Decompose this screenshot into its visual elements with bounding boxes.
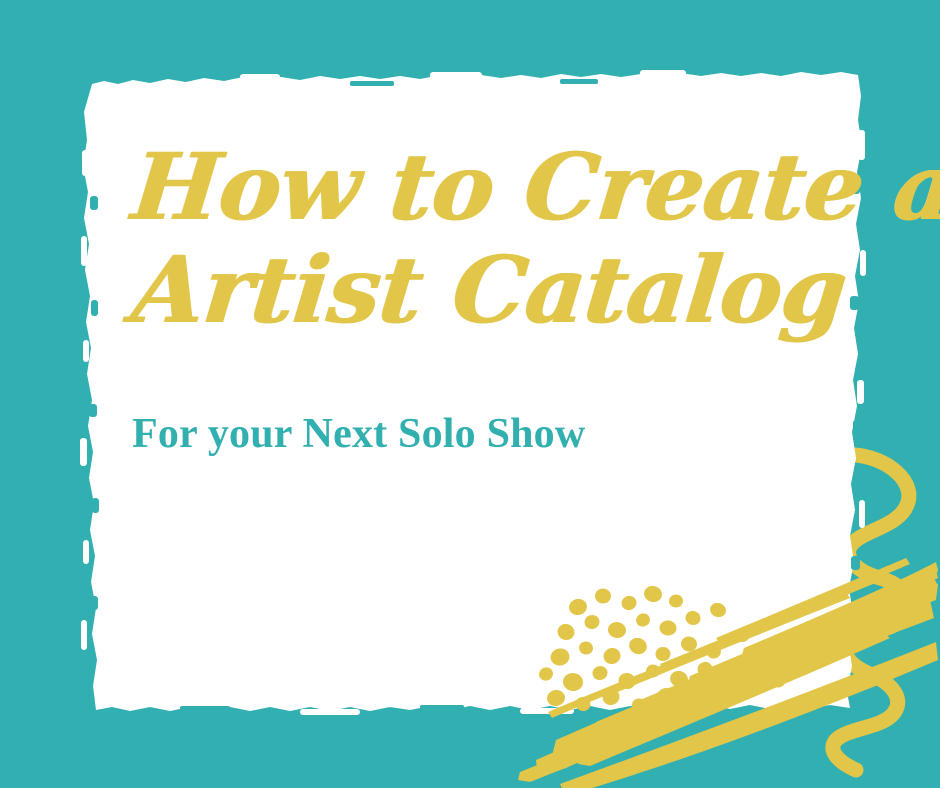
squiggle-zigzag-icon [833,455,909,770]
title-block: How to Create an Artist Catalog [128,140,828,338]
torn-paper-panel [0,0,940,788]
subtitle: For your Next Solo Show [132,410,585,458]
title-line-1: How to Create an [128,140,838,235]
title-line-2: Artist Catalog [128,243,838,338]
poster-canvas: How to Create an Artist Catalog For your… [0,0,940,788]
gold-decoration-layer [0,0,940,788]
squiggle-layer [0,0,940,788]
dot-scatter-icon [537,584,788,713]
brush-stroke-icon [518,558,938,788]
